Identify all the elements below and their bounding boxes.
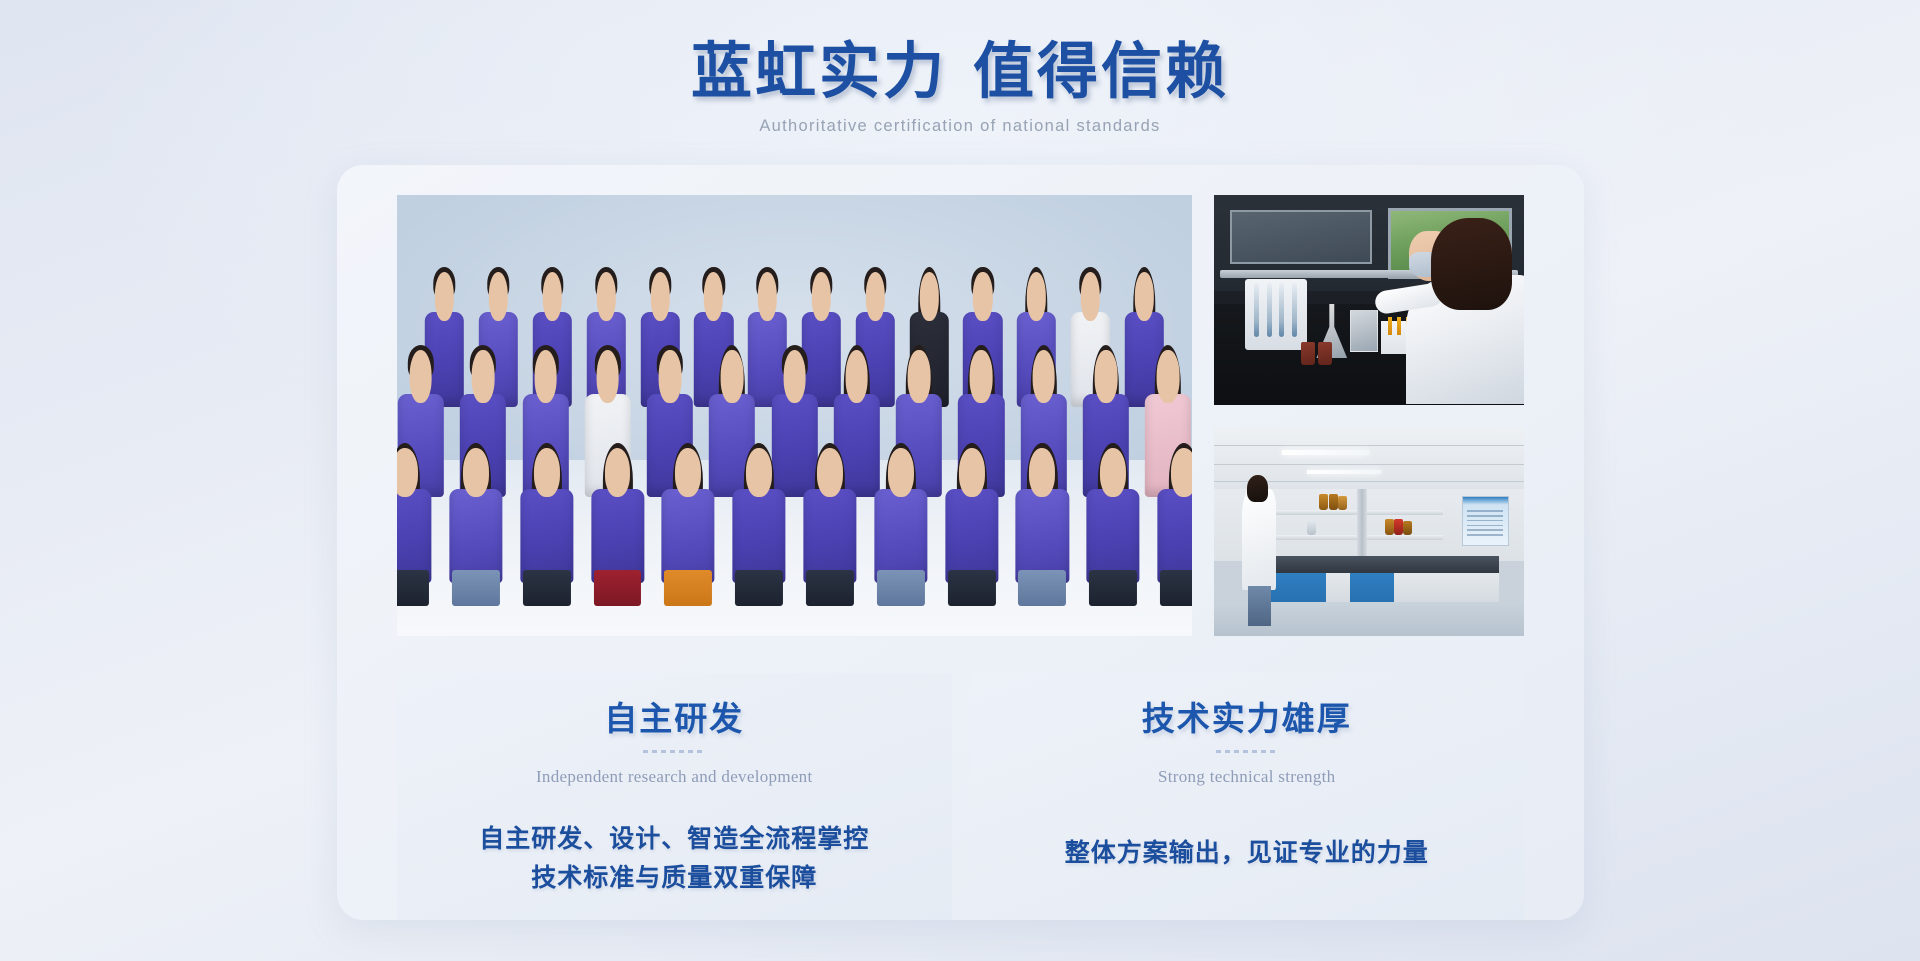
lab-b-reagent-bottle bbox=[1394, 519, 1403, 536]
lab-a-pipette bbox=[1254, 283, 1259, 337]
group-photo-person-jacket bbox=[520, 489, 573, 583]
group-photo-person bbox=[1075, 440, 1151, 602]
lab-b-reagent-bottle bbox=[1403, 521, 1412, 536]
group-photo-person-head bbox=[1095, 350, 1117, 403]
feature-card-rd[interactable]: 自主研发 Independent research and developmen… bbox=[397, 673, 952, 920]
group-photo-person-head bbox=[704, 272, 723, 321]
group-photo-person-head bbox=[1032, 350, 1054, 403]
group-photo-person-head bbox=[721, 350, 743, 403]
lab-b-technician-coat bbox=[1242, 489, 1276, 590]
group-photo-person-head bbox=[1029, 448, 1055, 497]
group-photo-person-jacket bbox=[874, 489, 927, 583]
group-photo-person bbox=[933, 440, 1009, 602]
group-photo-person bbox=[650, 440, 726, 602]
group-photo-people bbox=[397, 257, 1192, 610]
group-photo-person-legs bbox=[1160, 570, 1192, 606]
group-photo-person-head bbox=[758, 272, 777, 321]
group-photo-person-legs bbox=[397, 570, 429, 606]
lab-b-reagent-bottle bbox=[1319, 494, 1328, 511]
page-title-part-2: 值得信赖 bbox=[973, 36, 1229, 107]
group-photo-person-head bbox=[908, 350, 930, 403]
group-photo-person-head bbox=[463, 448, 489, 497]
group-photo-person bbox=[579, 440, 655, 602]
feature-card-tech-description: 整体方案输出，见证专业的力量 bbox=[970, 834, 1525, 873]
group-photo-person-legs bbox=[1089, 570, 1137, 606]
lab-b-ceiling-light bbox=[1282, 450, 1369, 455]
lab-b-reagent-bottle bbox=[1329, 494, 1338, 511]
lab-photo-column bbox=[1214, 195, 1524, 636]
lab-b-ceiling-light bbox=[1307, 470, 1381, 474]
lab-photo-room[interactable] bbox=[1214, 427, 1524, 637]
page-title: 蓝虹实力值得信赖 bbox=[0, 36, 1920, 108]
group-photo-person bbox=[863, 440, 939, 602]
lab-b-glassware bbox=[1307, 521, 1316, 536]
group-photo-person-legs bbox=[735, 570, 783, 606]
group-photo-person-head bbox=[1081, 272, 1100, 321]
group-photo-person-head bbox=[1027, 272, 1046, 321]
group-photo-person-head bbox=[846, 350, 868, 403]
dotted-divider-icon bbox=[1216, 750, 1278, 753]
lab-a-test-tube bbox=[1388, 317, 1392, 336]
group-photo-person-head bbox=[970, 350, 992, 403]
media-gallery bbox=[397, 195, 1524, 636]
group-photo-person-jacket bbox=[733, 489, 786, 583]
group-photo-person-legs bbox=[877, 570, 925, 606]
group-photo-person-head bbox=[596, 350, 618, 403]
lab-b-shelf bbox=[1257, 510, 1443, 515]
group-photo-person-legs bbox=[523, 570, 571, 606]
feature-card-rd-english: Independent research and development bbox=[397, 767, 952, 787]
group-photo-person-head bbox=[919, 272, 938, 321]
group-photo-person-head bbox=[534, 448, 560, 497]
page-title-part-1: 蓝虹实力 bbox=[691, 36, 947, 107]
group-photo-person bbox=[509, 440, 585, 602]
group-photo-person-legs bbox=[806, 570, 854, 606]
feature-card-rd-desc-line-2: 技术标准与质量双重保障 bbox=[397, 859, 952, 898]
group-photo-person-head bbox=[410, 350, 432, 403]
lab-a-window-left bbox=[1230, 210, 1373, 264]
lab-b-reagent-bottle bbox=[1338, 496, 1347, 511]
lab-a-pipette bbox=[1279, 283, 1284, 337]
group-photo-person-jacket bbox=[591, 489, 644, 583]
group-photo-person-head bbox=[675, 448, 701, 497]
dotted-divider-icon bbox=[643, 750, 705, 753]
group-photo-person-head bbox=[783, 350, 805, 403]
group-photo-person-head bbox=[397, 448, 418, 497]
lab-a-reagent-bottle bbox=[1318, 342, 1332, 365]
group-photo-person bbox=[721, 440, 797, 602]
feature-card-rd-title: 自主研发 bbox=[397, 700, 952, 739]
group-photo-person-head bbox=[659, 350, 681, 403]
group-photo-person-legs bbox=[452, 570, 500, 606]
group-photo-person-head bbox=[489, 272, 508, 321]
team-group-photo[interactable] bbox=[397, 195, 1192, 636]
panel-inner: 自主研发 Independent research and developmen… bbox=[397, 195, 1524, 890]
lab-b-safety-poster bbox=[1462, 496, 1509, 546]
lab-b-reagent-bottle bbox=[1385, 519, 1394, 536]
lab-a-pipette bbox=[1292, 283, 1297, 337]
group-photo-person bbox=[792, 440, 868, 602]
feature-card-tech-english: Strong technical strength bbox=[970, 767, 1525, 787]
page-header: 蓝虹实力值得信赖 Authoritative certification of … bbox=[0, 36, 1920, 136]
feature-card-rd-desc-line-1: 自主研发、设计、智造全流程掌控 bbox=[397, 820, 952, 859]
group-photo-person-jacket bbox=[397, 489, 431, 583]
group-photo-person bbox=[1004, 440, 1080, 602]
group-photo-person-head bbox=[435, 272, 454, 321]
group-photo-person-head bbox=[746, 448, 772, 497]
group-photo-person-head bbox=[817, 448, 843, 497]
lab-b-technician-hair bbox=[1247, 475, 1269, 502]
group-photo-person-jacket bbox=[945, 489, 998, 583]
lab-a-technician-hair bbox=[1431, 218, 1512, 310]
group-photo-person bbox=[1146, 440, 1192, 602]
group-photo-person-jacket bbox=[1158, 489, 1193, 583]
group-photo-person-head bbox=[597, 272, 616, 321]
lab-a-beaker bbox=[1350, 310, 1378, 352]
feature-card-tech[interactable]: 技术实力雄厚 Strong technical strength 整体方案输出，… bbox=[970, 673, 1525, 920]
group-photo-person-head bbox=[959, 448, 985, 497]
group-photo-person-jacket bbox=[1016, 489, 1069, 583]
group-photo-person-head bbox=[973, 272, 992, 321]
group-photo-person-legs bbox=[1018, 570, 1066, 606]
group-photo-person-jacket bbox=[1087, 489, 1140, 583]
group-photo-person-legs bbox=[948, 570, 996, 606]
feature-cards: 自主研发 Independent research and developmen… bbox=[397, 673, 1524, 920]
group-photo-person bbox=[397, 440, 443, 602]
group-photo-person bbox=[438, 440, 514, 602]
group-photo-person-head bbox=[888, 448, 914, 497]
group-photo-person-head bbox=[1157, 350, 1179, 403]
lab-photo-technician[interactable] bbox=[1214, 195, 1524, 405]
group-photo-person-head bbox=[472, 350, 494, 403]
lab-b-technician-legs bbox=[1248, 586, 1271, 626]
group-photo-person-jacket bbox=[662, 489, 715, 583]
group-photo-person-head bbox=[812, 272, 831, 321]
group-photo-person-head bbox=[866, 272, 885, 321]
group-photo-person-head bbox=[1135, 272, 1154, 321]
lab-b-ceiling-line bbox=[1214, 464, 1524, 465]
group-photo-person-legs bbox=[664, 570, 712, 606]
group-photo-person-legs bbox=[593, 570, 641, 606]
lab-a-test-tube bbox=[1397, 317, 1401, 336]
group-photo-person-head bbox=[1100, 448, 1126, 497]
group-photo-person-head bbox=[534, 350, 556, 403]
feature-card-rd-description: 自主研发、设计、智造全流程掌控 技术标准与质量双重保障 bbox=[397, 820, 952, 898]
lab-a-pipette bbox=[1267, 283, 1272, 337]
group-photo-person-jacket bbox=[803, 489, 856, 583]
group-photo-person-jacket bbox=[449, 489, 502, 583]
group-photo-person-head bbox=[650, 272, 669, 321]
lab-b-ceiling-line bbox=[1214, 445, 1524, 446]
group-photo-person-head bbox=[604, 448, 630, 497]
group-photo-person-head bbox=[1171, 448, 1192, 497]
page-subtitle: Authoritative certification of national … bbox=[0, 117, 1920, 136]
feature-card-tech-title: 技术实力雄厚 bbox=[970, 700, 1525, 739]
lab-b-shelf bbox=[1257, 535, 1443, 540]
feature-card-tech-desc-line-1: 整体方案输出，见证专业的力量 bbox=[970, 834, 1525, 873]
lab-a-reagent-bottle bbox=[1301, 342, 1315, 365]
group-photo-person-head bbox=[543, 272, 562, 321]
content-panel: 自主研发 Independent research and developmen… bbox=[337, 165, 1584, 920]
